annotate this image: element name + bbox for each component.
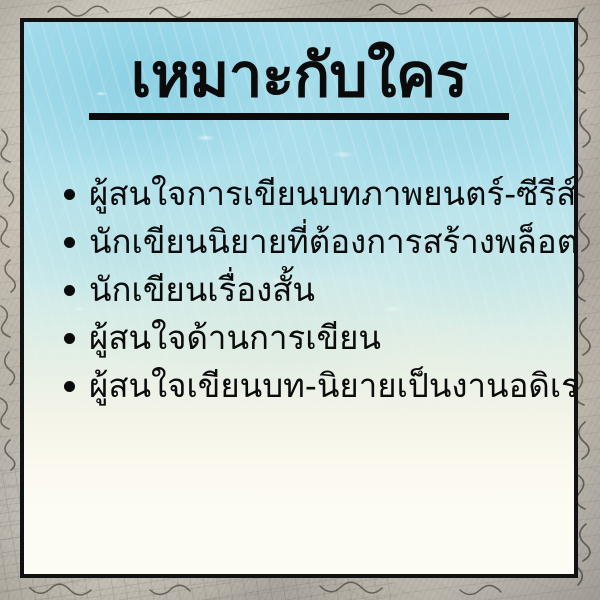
bullet-dot-icon: [64, 237, 75, 248]
list-item: นักเขียนเรื่องสั้น: [64, 268, 560, 313]
title-block: เหมาะกับใคร: [24, 44, 574, 120]
page-title: เหมาะกับใคร: [131, 44, 468, 109]
bullet-dot-icon: [64, 381, 75, 392]
audience-bullet-list: ผู้สนใจการเขียนบทภาพยนตร์-ซีรีส์ นักเขีย…: [64, 172, 560, 412]
bullet-dot-icon: [64, 189, 75, 200]
list-item-label: ผู้สนใจเขียนบท-นิยายเป็นงานอดิเรก: [89, 364, 578, 407]
list-item-label: ผู้สนใจการเขียนบทภาพยนตร์-ซีรีส์: [89, 172, 576, 215]
bullet-dot-icon: [64, 285, 75, 296]
poster-canvas: เหมาะกับใคร ผู้สนใจการเขียนบทภาพยนตร์-ซี…: [0, 0, 600, 600]
list-item-label: ผู้สนใจด้านการเขียน: [89, 316, 381, 359]
list-item: ผู้สนใจด้านการเขียน: [64, 316, 560, 361]
bullet-dot-icon: [64, 333, 75, 344]
card-content: เหมาะกับใคร ผู้สนใจการเขียนบทภาพยนตร์-ซี…: [24, 22, 574, 574]
list-item-label: นักเขียนนิยายที่ต้องการสร้างพล็อต: [89, 220, 578, 263]
list-item: ผู้สนใจเขียนบท-นิยายเป็นงานอดิเรก: [64, 364, 560, 409]
list-item: ผู้สนใจการเขียนบทภาพยนตร์-ซีรีส์: [64, 172, 560, 217]
content-card: เหมาะกับใคร ผู้สนใจการเขียนบทภาพยนตร์-ซี…: [20, 18, 578, 578]
list-item-label: นักเขียนเรื่องสั้น: [89, 268, 315, 311]
list-item: นักเขียนนิยายที่ต้องการสร้างพล็อต: [64, 220, 560, 265]
title-underline-rule: [89, 113, 509, 120]
